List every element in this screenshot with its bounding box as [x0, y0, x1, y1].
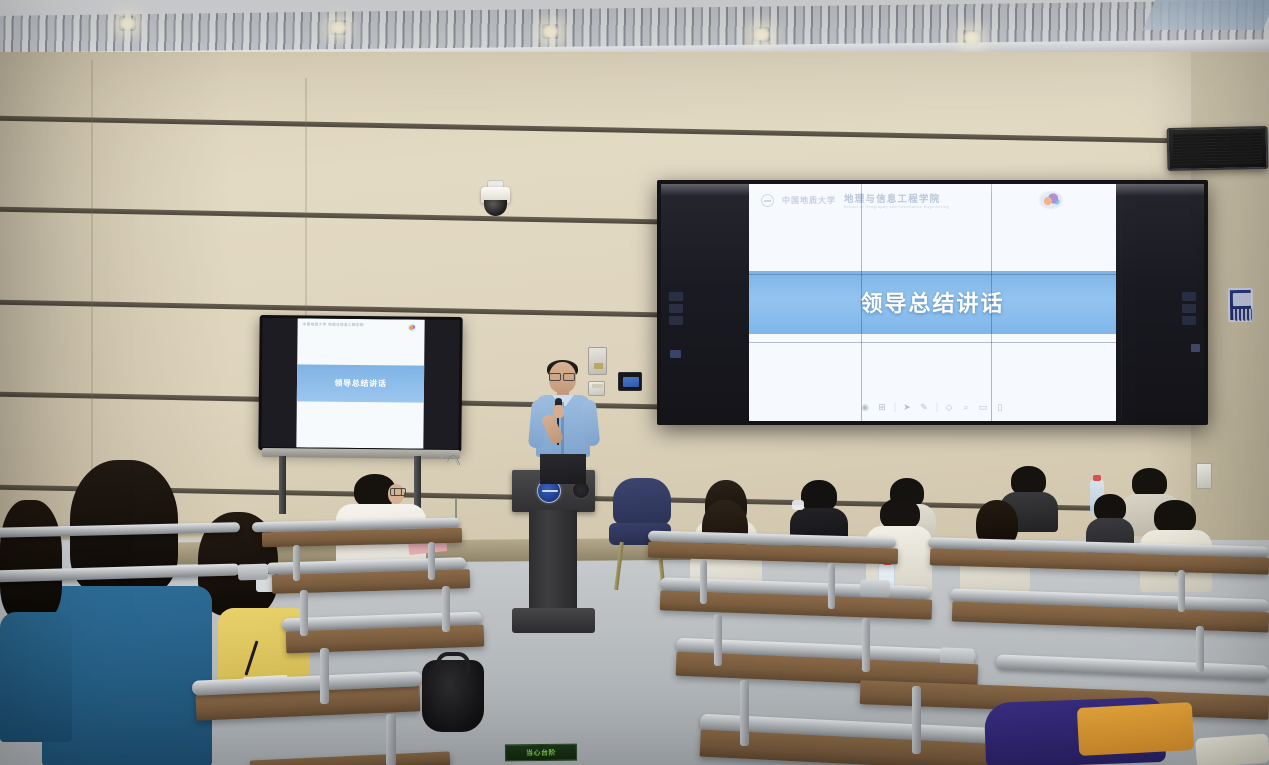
chair-backrest: [613, 478, 671, 525]
backpack[interactable]: [422, 660, 484, 732]
wall-junction-box: [1196, 463, 1212, 489]
slide-title: 领导总结讲话: [749, 271, 1116, 335]
ceiling-downlight: [963, 30, 980, 45]
panel-power-led: [670, 350, 681, 358]
desk-leg: [386, 714, 396, 765]
floor-sign-text: 当心台阶: [526, 747, 556, 757]
chair-leg: [614, 542, 624, 590]
slide-grid-icon[interactable]: ⊞: [877, 402, 887, 412]
more-options-icon[interactable]: ▯: [995, 402, 1005, 412]
orange-folder[interactable]: [1077, 702, 1194, 756]
monitor-slide-title: 领导总结讲话: [334, 378, 386, 390]
monitor-right-letterbox: [423, 320, 459, 449]
glasses-icon: [390, 488, 406, 494]
podium-column: [529, 510, 577, 611]
safety-sign: [1228, 288, 1254, 322]
video-wall-bezel-seam: [1121, 184, 1122, 421]
ceiling-downlight: [753, 27, 770, 42]
monitor-stand-post: [279, 456, 286, 514]
cursor-arrow-icon[interactable]: ➤: [902, 402, 912, 412]
presenter-trousers: [540, 454, 586, 484]
desk-leg: [428, 542, 435, 580]
desk-leg: [1178, 570, 1185, 612]
floor-sign: 当心台阶: [505, 744, 577, 762]
person-hair: [0, 500, 62, 620]
video-wall-bezel-seam: [991, 184, 992, 421]
rail-joint: [860, 579, 891, 597]
desk-leg: [828, 563, 835, 609]
room-control-display[interactable]: [618, 372, 642, 391]
ceiling: [0, 0, 1269, 58]
audience-person: [790, 480, 848, 542]
monitor-slide-header: 中国地质大学 地理与信息工程学院: [303, 322, 364, 328]
safety-sign-pictogram: [1233, 293, 1252, 306]
wall-speaker: [1167, 126, 1269, 171]
monitor-screen: 中国地质大学 地理与信息工程学院 领导总结讲话: [296, 318, 424, 448]
ceiling-downlight: [119, 16, 136, 31]
desk-leg: [714, 614, 722, 666]
desk-leg: [293, 545, 300, 581]
person-hair: [1154, 500, 1196, 534]
ceiling-downlight: [542, 24, 559, 39]
video-wall-bezel-seam: [861, 184, 862, 421]
video-wall[interactable]: 中国地质大学 地理与信息工程学院 School of Geography and…: [657, 180, 1208, 425]
slide-content: 中国地质大学 地理与信息工程学院 School of Geography and…: [749, 184, 1116, 421]
presenter-toolbar[interactable]: ◉ ⊞ ➤ ✎ ◇ ⌕ ▭ ▯: [860, 402, 1005, 412]
toolbar-divider: [936, 402, 937, 412]
white-item[interactable]: [1195, 733, 1269, 765]
eraser-icon[interactable]: ◇: [944, 402, 954, 412]
university-name: 中国地质大学: [782, 195, 836, 206]
podium: [512, 470, 595, 633]
rail-joint: [238, 564, 268, 581]
wall-seam: [305, 78, 307, 318]
desk-leg: [1196, 626, 1204, 672]
desk-leg: [740, 680, 749, 746]
ptz-dome-camera: [479, 180, 511, 220]
monitor-department-logo-icon: [408, 323, 417, 331]
presenter-view-icon[interactable]: ▭: [978, 402, 988, 412]
podium-base: [512, 608, 595, 633]
ceiling-downlight: [330, 20, 347, 35]
video-wall-left-letterbox: [661, 184, 749, 421]
screen-glare: [661, 184, 1204, 196]
face-mask: [792, 500, 804, 510]
panel-indicator-lights: [669, 292, 683, 328]
school-name-en: School of Geography and Information Engi…: [844, 205, 949, 209]
presenter-hand: [553, 405, 564, 418]
side-monitor[interactable]: 中国地质大学 地理与信息工程学院 领导总结讲话: [258, 315, 462, 452]
video-wall-bezel-seam: [749, 274, 1116, 275]
pen-icon[interactable]: ✎: [919, 402, 929, 412]
glasses-icon: [549, 373, 575, 379]
desk-leg: [700, 560, 707, 604]
person-torso: [0, 612, 72, 742]
desk-leg: [320, 648, 329, 704]
camera-dome-lens: [484, 200, 507, 216]
panel-indicator-lights: [1182, 292, 1196, 328]
desk-leg: [912, 686, 921, 754]
presenter: [528, 362, 598, 487]
video-wall-right-letterbox: [1116, 184, 1204, 421]
monitor-left-letterbox: [261, 318, 297, 447]
panel-power-led: [1191, 344, 1200, 352]
zoom-icon[interactable]: ⌕: [961, 402, 971, 412]
desk-leg: [862, 618, 870, 672]
lecture-hall-photo: 中国地质大学 地理与信息工程学院 School of Geography and…: [0, 0, 1269, 765]
ceiling-skylight: [1143, 0, 1269, 30]
desk-leg: [300, 590, 308, 636]
safety-sign-text-block: [1233, 309, 1252, 321]
desk-leg: [442, 586, 450, 632]
monitor-title-band: 领导总结讲话: [297, 365, 424, 402]
video-wall-bezel-seam: [749, 342, 1116, 343]
wall-seam: [91, 60, 93, 490]
toolbar-divider: [894, 402, 895, 412]
